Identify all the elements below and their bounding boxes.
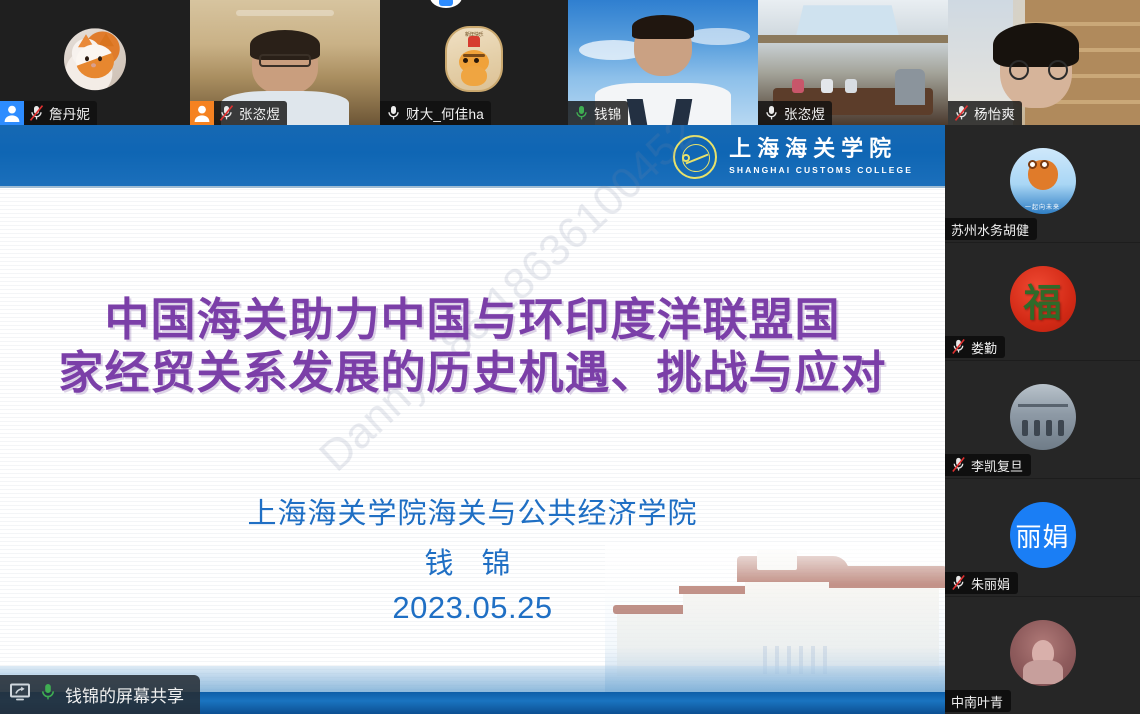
participant-namebar: 朱丽娟 [945, 572, 1018, 594]
participant-tile[interactable]: 新年快乐 财大_何佳ha [380, 0, 568, 125]
participant-namebar: 苏州水务胡健 [945, 218, 1037, 240]
sidebar-participant-tile[interactable]: 一起向未来 苏州水务胡健 [945, 125, 1140, 243]
microphone-muted-icon [951, 456, 966, 474]
participant-namebar: 钱锦 [568, 101, 628, 125]
participant-name: 李凯复旦 [971, 456, 1023, 475]
microphone-muted-icon [954, 104, 969, 122]
college-name-cn: 上海海关学院 [729, 138, 913, 161]
avatar [64, 28, 126, 90]
microphone-muted-icon [951, 574, 966, 592]
slide-subtitle-org: 上海海关学院海关与公共经济学院 [0, 490, 945, 532]
slide-title-line2: 家经贸关系发展的历史机遇、挑战与应对 [0, 346, 945, 399]
sidebar-participant-tile[interactable]: 李凯复旦 [945, 361, 1140, 479]
participant-namebar: 李凯复旦 [945, 454, 1031, 476]
microphone-icon [386, 104, 401, 122]
screen-share-icon [9, 682, 31, 707]
college-emblem-icon [673, 135, 717, 179]
slide-title-line1: 中国海关助力中国与环印度洋联盟国 [0, 293, 945, 346]
shared-screen-area[interactable]: 上海海关学院 SHANGHAI CUSTOMS COLLEGE [0, 125, 945, 714]
sidebar-participant-tile[interactable]: 中南叶青 [945, 597, 1140, 714]
participant-namebar: 娄勤 [945, 336, 1005, 358]
participant-name: 苏州水务胡健 [951, 220, 1029, 239]
participant-tile[interactable]: 詹丹妮 [0, 0, 190, 125]
participant-namebar: 杨怡爽 [948, 101, 1022, 125]
microphone-muted-icon [951, 338, 966, 356]
sidebar-participant-tile[interactable]: 福 娄勤 [945, 243, 1140, 361]
participant-namebar: 詹丹妮 [0, 101, 97, 125]
zoom-meeting-window: 詹丹妮 张恣煜 [0, 0, 1140, 714]
participant-name: 朱丽娟 [971, 574, 1010, 593]
participant-name: 中南叶青 [951, 692, 1003, 711]
microphone-muted-icon [219, 104, 234, 122]
participant-namebar: 张恣煜 [758, 101, 832, 125]
participant-name: 娄勤 [971, 338, 997, 357]
slide-header-banner: 上海海关学院 SHANGHAI CUSTOMS COLLEGE [0, 125, 945, 188]
slide-subtitle-date: 2023.05.25 [0, 590, 945, 626]
top-participant-strip: 詹丹妮 张恣煜 [0, 0, 1140, 125]
slide-title: 中国海关助力中国与环印度洋联盟国 家经贸关系发展的历史机遇、挑战与应对 [0, 293, 945, 399]
avatar [1010, 384, 1076, 450]
sidebar-participant-list[interactable]: 一起向未来 苏州水务胡健 福 娄勤 [945, 125, 1140, 714]
microphone-icon [764, 104, 779, 122]
college-logo: 上海海关学院 SHANGHAI CUSTOMS COLLEGE [673, 133, 913, 180]
avatar: 丽娟 [1010, 502, 1076, 568]
person-badge-icon [190, 101, 214, 125]
slide-subtitle-author: 钱 锦 [0, 540, 945, 582]
participant-tile[interactable]: 钱锦 [568, 0, 758, 125]
avatar: 一起向未来 [1010, 148, 1076, 214]
participant-namebar: 中南叶青 [945, 690, 1011, 712]
sidebar-participant-tile[interactable]: 丽娟 朱丽娟 [945, 479, 1140, 597]
participant-name: 詹丹妮 [49, 103, 90, 123]
participant-name: 张恣煜 [784, 103, 825, 123]
participant-name: 财大_何佳ha [406, 103, 484, 123]
participant-name: 杨怡爽 [974, 103, 1015, 123]
avatar: 福 [1010, 266, 1076, 332]
screen-share-indicator: 钱锦的屏幕共享 [0, 675, 200, 714]
presentation-slide: 上海海关学院 SHANGHAI CUSTOMS COLLEGE [0, 125, 945, 714]
participant-tile[interactable]: 张恣煜 [758, 0, 948, 125]
person-badge-icon [0, 101, 24, 125]
microphone-muted-icon [29, 104, 44, 122]
participant-namebar: 财大_何佳ha [380, 101, 491, 125]
participant-name: 钱锦 [594, 103, 621, 123]
microphone-icon [574, 104, 589, 122]
participant-tile[interactable]: 杨怡爽 [948, 0, 1140, 125]
participant-tile[interactable]: 张恣煜 [190, 0, 380, 125]
avatar: 新年快乐 [445, 26, 503, 92]
avatar [1010, 620, 1076, 686]
screen-share-label: 钱锦的屏幕共享 [65, 682, 184, 707]
slide-subtitle: 上海海关学院海关与公共经济学院 钱 锦 2023.05.25 [0, 490, 945, 626]
participant-name: 张恣煜 [239, 103, 280, 123]
microphone-icon [40, 682, 56, 707]
participant-namebar: 张恣煜 [190, 101, 287, 125]
college-name-en: SHANGHAI CUSTOMS COLLEGE [729, 165, 913, 175]
